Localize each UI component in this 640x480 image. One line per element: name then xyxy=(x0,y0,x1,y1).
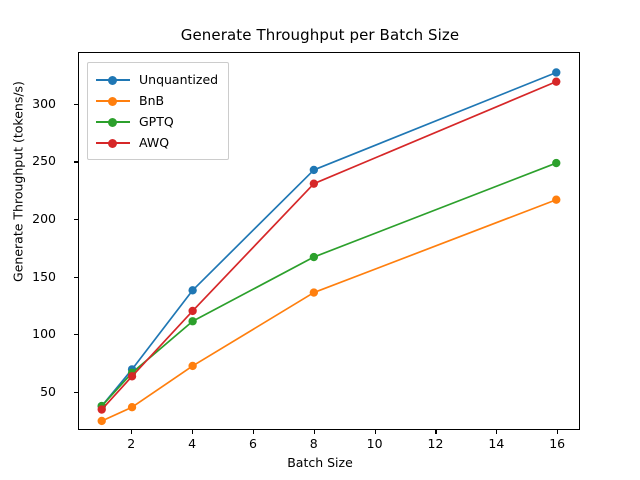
legend-label: BnB xyxy=(139,93,164,108)
data-point xyxy=(310,253,318,261)
data-point xyxy=(128,403,136,411)
y-tick-label: 200 xyxy=(16,213,56,225)
data-point xyxy=(552,196,560,204)
legend-swatch-icon xyxy=(96,137,130,149)
legend-label: GPTQ xyxy=(139,114,174,129)
legend-label: Unquantized xyxy=(139,72,218,87)
legend-label: AWQ xyxy=(139,135,169,150)
data-point xyxy=(188,286,196,294)
series-line xyxy=(102,200,557,421)
x-tick-mark xyxy=(192,430,193,434)
legend-item-gptq[interactable]: GPTQ xyxy=(96,111,218,132)
x-tick-mark xyxy=(314,430,315,434)
x-tick-mark xyxy=(435,430,436,434)
x-tick-label: 14 xyxy=(476,436,516,451)
data-point xyxy=(188,307,196,315)
series-line xyxy=(102,163,557,406)
data-point xyxy=(310,288,318,296)
x-tick-mark xyxy=(496,430,497,434)
x-axis-label: Batch Size xyxy=(0,455,640,470)
chart-figure: Generate Throughput per Batch Size Gener… xyxy=(0,0,640,480)
series-bnb xyxy=(98,196,561,426)
data-point xyxy=(552,159,560,167)
series-gptq xyxy=(98,159,561,410)
legend-swatch-icon xyxy=(96,116,130,128)
x-tick-label: 8 xyxy=(294,436,334,451)
x-tick-mark xyxy=(131,430,132,434)
data-point xyxy=(128,372,136,380)
y-tick-label: 150 xyxy=(16,271,56,283)
x-tick-label: 12 xyxy=(415,436,455,451)
x-tick-label: 4 xyxy=(172,436,212,451)
y-tick-label: 300 xyxy=(16,98,56,110)
x-tick-mark xyxy=(557,430,558,434)
y-axis-label: Generate Throughput (tokens/s) xyxy=(11,0,26,372)
data-point xyxy=(552,77,560,85)
data-point xyxy=(98,405,106,413)
chart-title: Generate Throughput per Batch Size xyxy=(0,26,640,44)
y-tick-label: 50 xyxy=(16,386,56,398)
x-tick-mark xyxy=(253,430,254,434)
data-point xyxy=(98,417,106,425)
x-tick-mark xyxy=(375,430,376,434)
legend-item-unquantized[interactable]: Unquantized xyxy=(96,69,218,90)
data-point xyxy=(552,68,560,76)
x-tick-label: 2 xyxy=(111,436,151,451)
x-tick-label: 10 xyxy=(355,436,395,451)
legend-item-awq[interactable]: AWQ xyxy=(96,132,218,153)
data-point xyxy=(188,317,196,325)
x-tick-label: 16 xyxy=(537,436,577,451)
legend-item-bnb[interactable]: BnB xyxy=(96,90,218,111)
legend-swatch-icon xyxy=(96,74,130,86)
legend-swatch-icon xyxy=(96,95,130,107)
chart-legend: UnquantizedBnBGPTQAWQ xyxy=(87,62,229,160)
data-point xyxy=(310,166,318,174)
x-tick-label: 6 xyxy=(233,436,273,451)
data-point xyxy=(188,362,196,370)
y-tick-label: 100 xyxy=(16,328,56,340)
y-tick-label: 250 xyxy=(16,155,56,167)
data-point xyxy=(310,180,318,188)
